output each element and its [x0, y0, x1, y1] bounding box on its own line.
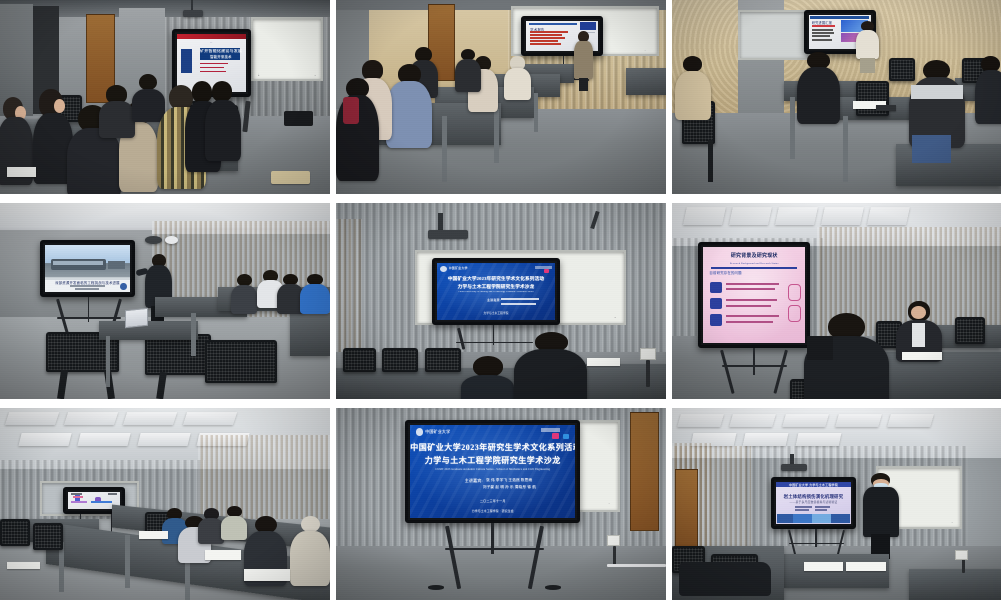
chair: [0, 519, 30, 546]
projector: [781, 464, 807, 472]
photo-cell-1[interactable]: — 矿井智能化建设与发展 智能开采技术: [0, 0, 330, 194]
power-socket: [607, 535, 620, 547]
photo-5-scene: 中国矿业大学 中国矿业大学2023年研究生学术文化系列活动 力学与土木工程学院研…: [336, 203, 666, 399]
photo-cell-5[interactable]: 中国矿业大学 中国矿业大学2023年研究生学术文化系列活动 力学与土木工程学院研…: [336, 203, 666, 399]
person: [386, 64, 432, 145]
slide-footer: 力学与土木工程学院: [437, 311, 556, 315]
person: [336, 78, 379, 179]
projector: [183, 10, 203, 18]
desk: [574, 364, 666, 399]
tv-stand: [711, 348, 797, 399]
photo-cell-3[interactable]: 研究进展汇报: [672, 0, 1001, 194]
slide-host-label: 主讲嘉宾:: [450, 478, 483, 484]
slide-content: 中国矿业大学 中国矿业大学2023年研究生学术文化系列活动 力学与土木工程学院研…: [437, 263, 556, 320]
slide-title-line1: 中国矿业大学2023年研究生学术文化系列活动: [410, 442, 575, 453]
person: [231, 274, 257, 313]
display-screen[interactable]: 中国矿业大学 力学与土木工程学院 岩土体结构损伤演化机理研究 ——基于多尺度数值…: [771, 477, 857, 529]
slide-content: 中国矿业大学 力学与土木工程学院 岩土体结构损伤演化机理研究 ——基于多尺度数值…: [776, 482, 852, 524]
chair: [856, 81, 889, 116]
slide-subtitle: 智能开采技术: [200, 54, 242, 59]
slide-subtitle: 目前研究存在的问题: [709, 270, 754, 275]
photo-cell-7[interactable]: [0, 408, 330, 600]
slide-content: 研究背景及研究现状 Research Background and Resear…: [703, 247, 805, 343]
projector: [145, 236, 162, 244]
university-logo: [440, 266, 447, 272]
display-screen[interactable]: 中国矿业大学 中国矿业大学2023年研究生学术文化系列活动 力学与土木工程学院研…: [405, 420, 580, 524]
papers: [804, 562, 843, 572]
slide-title-en: Research Background and Research Status: [703, 262, 805, 265]
power-socket: [955, 550, 968, 560]
desk: [909, 569, 1001, 600]
papers: [244, 569, 290, 581]
photo-4-scene: 深部资源开发面临的工程挑战与技术进展: [0, 203, 330, 399]
presenter: [574, 31, 594, 91]
display-screen[interactable]: 深部资源开发面临的工程挑战与技术进展: [40, 240, 136, 297]
slide-banner: [177, 34, 246, 39]
desk: [626, 68, 666, 95]
slide-hosts-line2: 刘子豪 赵 明 孙 乐 周晓彤 徐 航: [483, 485, 562, 490]
person: [461, 356, 514, 399]
cable: [962, 558, 966, 573]
projector: [428, 230, 468, 239]
chair: [382, 348, 418, 372]
person: [99, 85, 135, 135]
slide-logo: [120, 283, 127, 290]
person: [300, 274, 330, 313]
slide-title: 研究背景及研究现状: [703, 252, 805, 259]
slide-caption: 深部资源开发面临的工程挑战与技术进展: [45, 280, 131, 285]
slide-content: 中国矿业大学 中国矿业大学2023年研究生学术文化系列活动 力学与土木工程学院研…: [410, 425, 575, 519]
photo-cell-9[interactable]: 中国矿业大学 力学与土木工程学院 岩土体结构损伤演化机理研究 ——基于多尺度数值…: [672, 408, 1001, 600]
photo-cell-4[interactable]: 深部资源开发面临的工程挑战与技术进展: [0, 203, 330, 399]
photo-7-scene: [0, 408, 330, 600]
presenter: [863, 473, 899, 557]
papers: [902, 352, 941, 360]
chair: [955, 317, 985, 344]
slide-title: 矿井智能化建设与发展: [200, 49, 242, 53]
slide-header: 中国矿业大学 力学与土木工程学院: [776, 483, 852, 487]
person: [797, 52, 840, 122]
slide-footer: 力学与土木工程学院 · 研究生会: [410, 509, 575, 513]
photo-cell-6[interactable]: 研究背景及研究现状 Research Background and Resear…: [672, 203, 1001, 399]
display-screen[interactable]: 研究背景及研究现状 Research Background and Resear…: [698, 242, 810, 348]
cable: [646, 360, 650, 387]
cable: [613, 546, 616, 565]
chair: [33, 523, 63, 550]
papers: [587, 358, 620, 366]
papers: [876, 105, 896, 111]
person: [975, 56, 1001, 122]
photo-cell-8[interactable]: 中国矿业大学 中国矿业大学2023年研究生学术文化系列活动 力学与土木工程学院研…: [336, 408, 666, 600]
slide-subtitle-en: CUMT 2023 Graduate Academic Culture Seri…: [410, 468, 575, 471]
person: [205, 81, 241, 159]
slide-date: 二〇二三年十一月: [410, 499, 575, 503]
tv-stand: [422, 523, 567, 592]
laptop: [125, 308, 148, 328]
university-logo: [416, 428, 423, 435]
chair: [205, 340, 278, 383]
display-screen[interactable]: 中国矿业大学 中国矿业大学2023年研究生学术文化系列活动 力学与土木工程学院研…: [432, 258, 561, 325]
presenter: [856, 21, 879, 71]
whiteboard: [251, 17, 324, 81]
slide-title-line1: 中国矿业大学2023年研究生学术文化系列活动: [437, 276, 556, 282]
photo-8-scene: 中国矿业大学 中国矿业大学2023年研究生学术文化系列活动 力学与土木工程学院研…: [336, 408, 666, 600]
photo-grid: — 矿井智能化建设与发展 智能开采技术: [0, 0, 1001, 606]
chair: [145, 334, 211, 375]
papers: [7, 167, 37, 177]
photo-cell-2[interactable]: 学术报告: [336, 0, 666, 194]
slide-host-label: 主讲嘉宾:: [470, 298, 501, 302]
person: [675, 56, 711, 118]
floor-speaker: [284, 111, 314, 127]
person: [504, 56, 530, 99]
person: [514, 332, 587, 399]
cable: [607, 564, 666, 567]
papers: [846, 562, 885, 572]
speaker: [807, 336, 833, 360]
slide-content: 深部资源开发面临的工程挑战与技术进展: [45, 245, 131, 292]
photo-2-scene: 学术报告: [336, 0, 666, 194]
slide-subtitle: ——基于多尺度数值模拟与试验验证: [776, 500, 852, 504]
papers: [7, 562, 40, 570]
chair: [343, 348, 376, 372]
person: [455, 49, 481, 92]
photo-3-scene: 研究进展汇报: [672, 0, 1001, 194]
chair: [425, 348, 461, 372]
slide-title-line2: 力学与土木工程学院研究生学术沙龙: [410, 455, 575, 466]
desk: [99, 321, 198, 341]
papers: [205, 550, 241, 560]
projector-arm: [438, 213, 443, 233]
slide-logo-text: 中国矿业大学: [449, 266, 470, 270]
desk: [290, 313, 330, 356]
person: [290, 516, 330, 585]
papers: [139, 531, 169, 539]
slide-logo-text: 中国矿业大学: [425, 429, 456, 435]
photo-9-scene: 中国矿业大学 力学与土木工程学院 岩土体结构损伤演化机理研究 ——基于多尺度数值…: [672, 408, 1001, 600]
power-socket: [640, 348, 657, 360]
slide-title-line2: 力学与土木工程学院研究生学术沙龙: [437, 284, 556, 290]
slide-hosts-line1: 张 伟 李宇飞 王浩然 陈思雨: [486, 478, 559, 483]
person: [909, 60, 965, 161]
photo-1-scene: — 矿井智能化建设与发展 智能开采技术: [0, 0, 330, 194]
papers: [271, 171, 311, 185]
photo-6-scene: 研究背景及研究现状 Research Background and Resear…: [672, 203, 1001, 399]
slide-subtitle-en: China University of Mining and Technolog…: [437, 291, 556, 293]
